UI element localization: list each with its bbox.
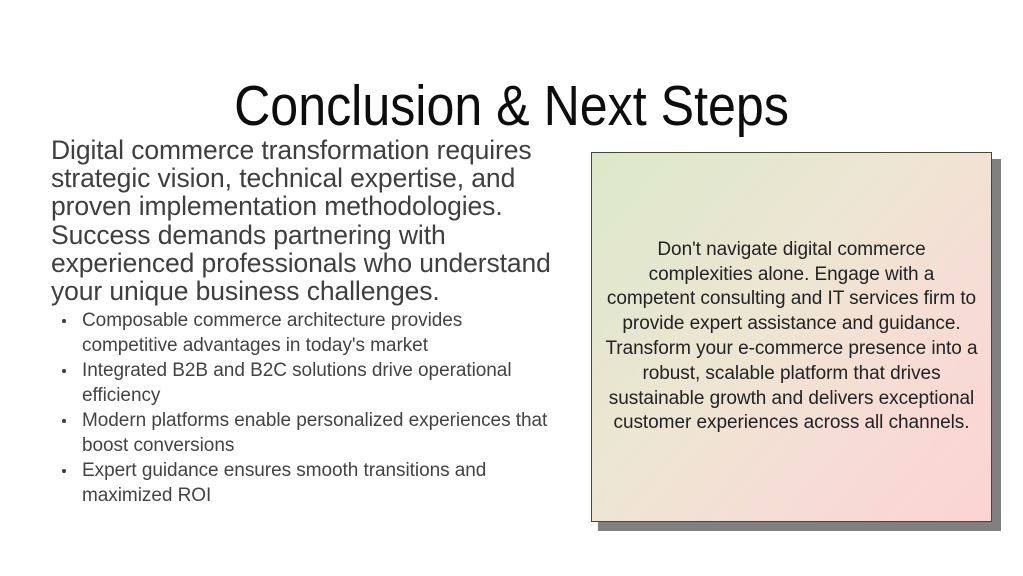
list-item: Expert guidance ensures smooth transitio… <box>51 459 551 508</box>
slide-canvas: Conclusion & Next Steps Digital commerce… <box>0 0 1023 576</box>
lead-paragraph: Digital commerce transformation requires… <box>51 136 551 305</box>
list-item: Modern platforms enable personalized exp… <box>51 409 551 458</box>
key-points-list: Composable commerce architecture provide… <box>51 309 551 508</box>
bullet-dot-icon <box>62 319 66 323</box>
page-title: Conclusion & Next Steps <box>61 72 961 140</box>
bullet-dot-icon <box>62 469 66 473</box>
bullet-dot-icon <box>62 419 66 423</box>
list-item: Integrated B2B and B2C solutions drive o… <box>51 359 551 408</box>
list-item-label: Expert guidance ensures smooth transitio… <box>82 460 486 506</box>
list-item-label: Composable commerce architecture provide… <box>82 310 462 356</box>
callout-box: Don't navigate digital commerce complexi… <box>591 152 992 522</box>
left-content-column: Digital commerce transformation requires… <box>51 136 551 509</box>
list-item: Composable commerce architecture provide… <box>51 309 551 358</box>
list-item-label: Modern platforms enable personalized exp… <box>82 410 547 456</box>
callout-text: Don't navigate digital commerce complexi… <box>592 238 991 436</box>
bullet-dot-icon <box>62 369 66 373</box>
list-item-label: Integrated B2B and B2C solutions drive o… <box>82 360 512 406</box>
